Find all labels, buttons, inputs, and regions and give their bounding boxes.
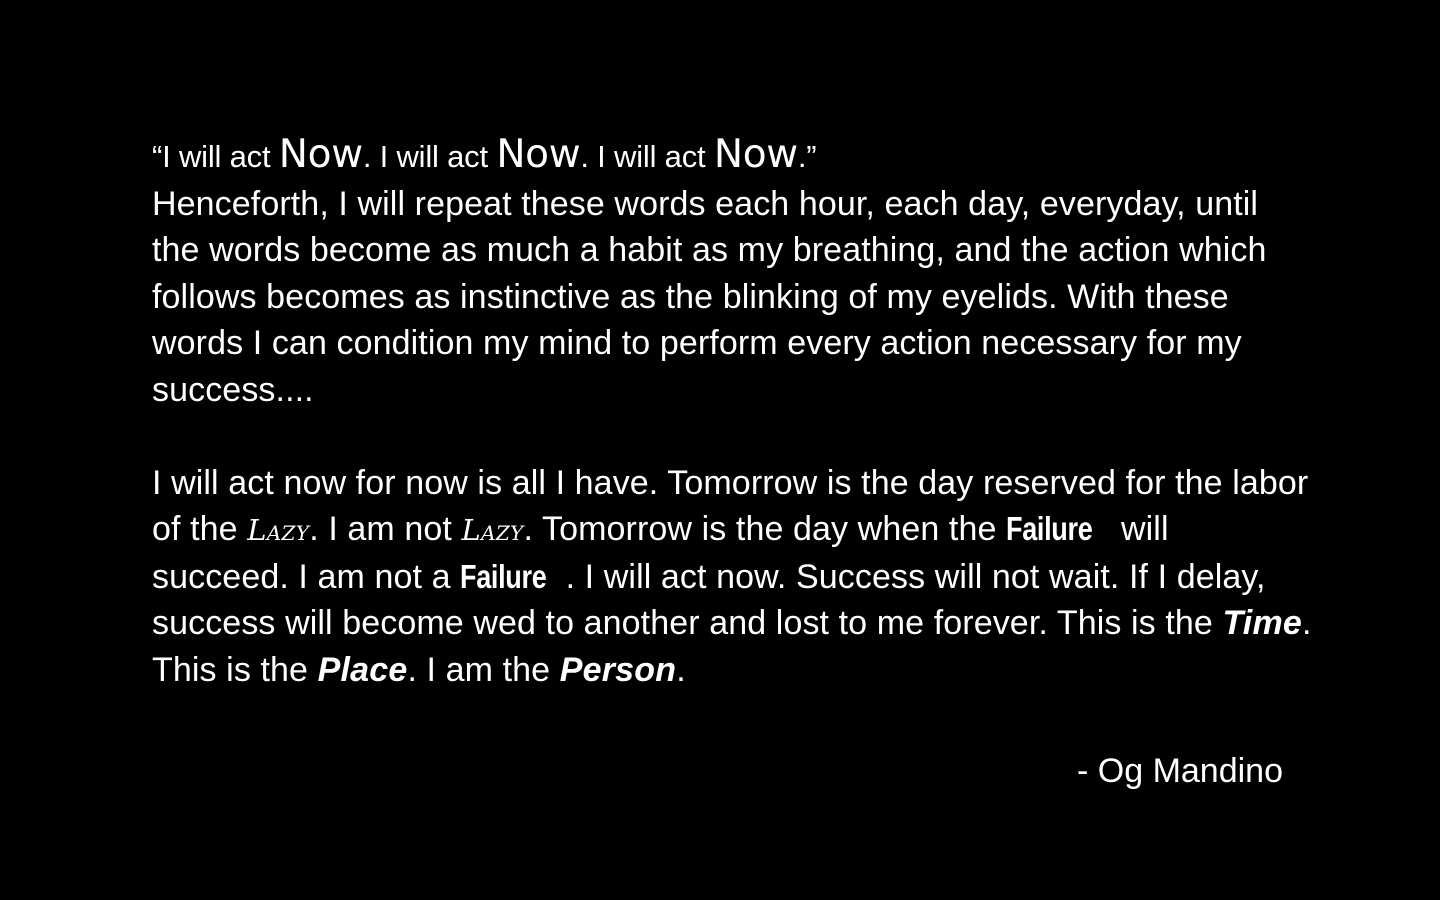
opening-segment-3: . I will act	[580, 139, 713, 174]
emphasis-place: Place	[318, 651, 408, 689]
para2-segment-3: . Tomorrow is the day when the	[524, 510, 1007, 548]
closing-quote-mark: .”	[798, 139, 817, 174]
emphasis-failure-1: Failure	[1006, 506, 1092, 553]
opening-quote-line: “I will act Now. I will act Now. I will …	[152, 132, 1312, 413]
emphasis-now-3: Now	[714, 132, 798, 177]
paragraph-one-body: Henceforth, I will repeat these words ea…	[152, 185, 1267, 409]
para2-segment-2: . I am not	[309, 510, 461, 548]
emphasis-person: Person	[560, 651, 676, 689]
open-quote-mark: “	[152, 139, 162, 174]
quote-attribution: - Og Mandino	[152, 748, 1283, 795]
para2-segment-8: .	[676, 651, 686, 689]
opening-segment-1: I will act	[162, 139, 279, 174]
opening-segment-2: . I will act	[363, 139, 496, 174]
emphasis-time: Time	[1222, 604, 1302, 642]
paragraph-two: I will act now for now is all I have. To…	[152, 460, 1312, 694]
emphasis-lazy-2: Lazy	[462, 513, 524, 547]
emphasis-lazy-1: Lazy	[247, 513, 309, 547]
emphasis-failure-2: Failure	[460, 554, 546, 601]
para2-segment-7: . I am the	[407, 651, 559, 689]
quote-text-block: “I will act Now. I will act Now. I will …	[152, 132, 1312, 693]
emphasis-now-1: Now	[279, 132, 363, 177]
emphasis-now-2: Now	[496, 132, 580, 177]
quote-slide: “I will act Now. I will act Now. I will …	[0, 0, 1440, 900]
